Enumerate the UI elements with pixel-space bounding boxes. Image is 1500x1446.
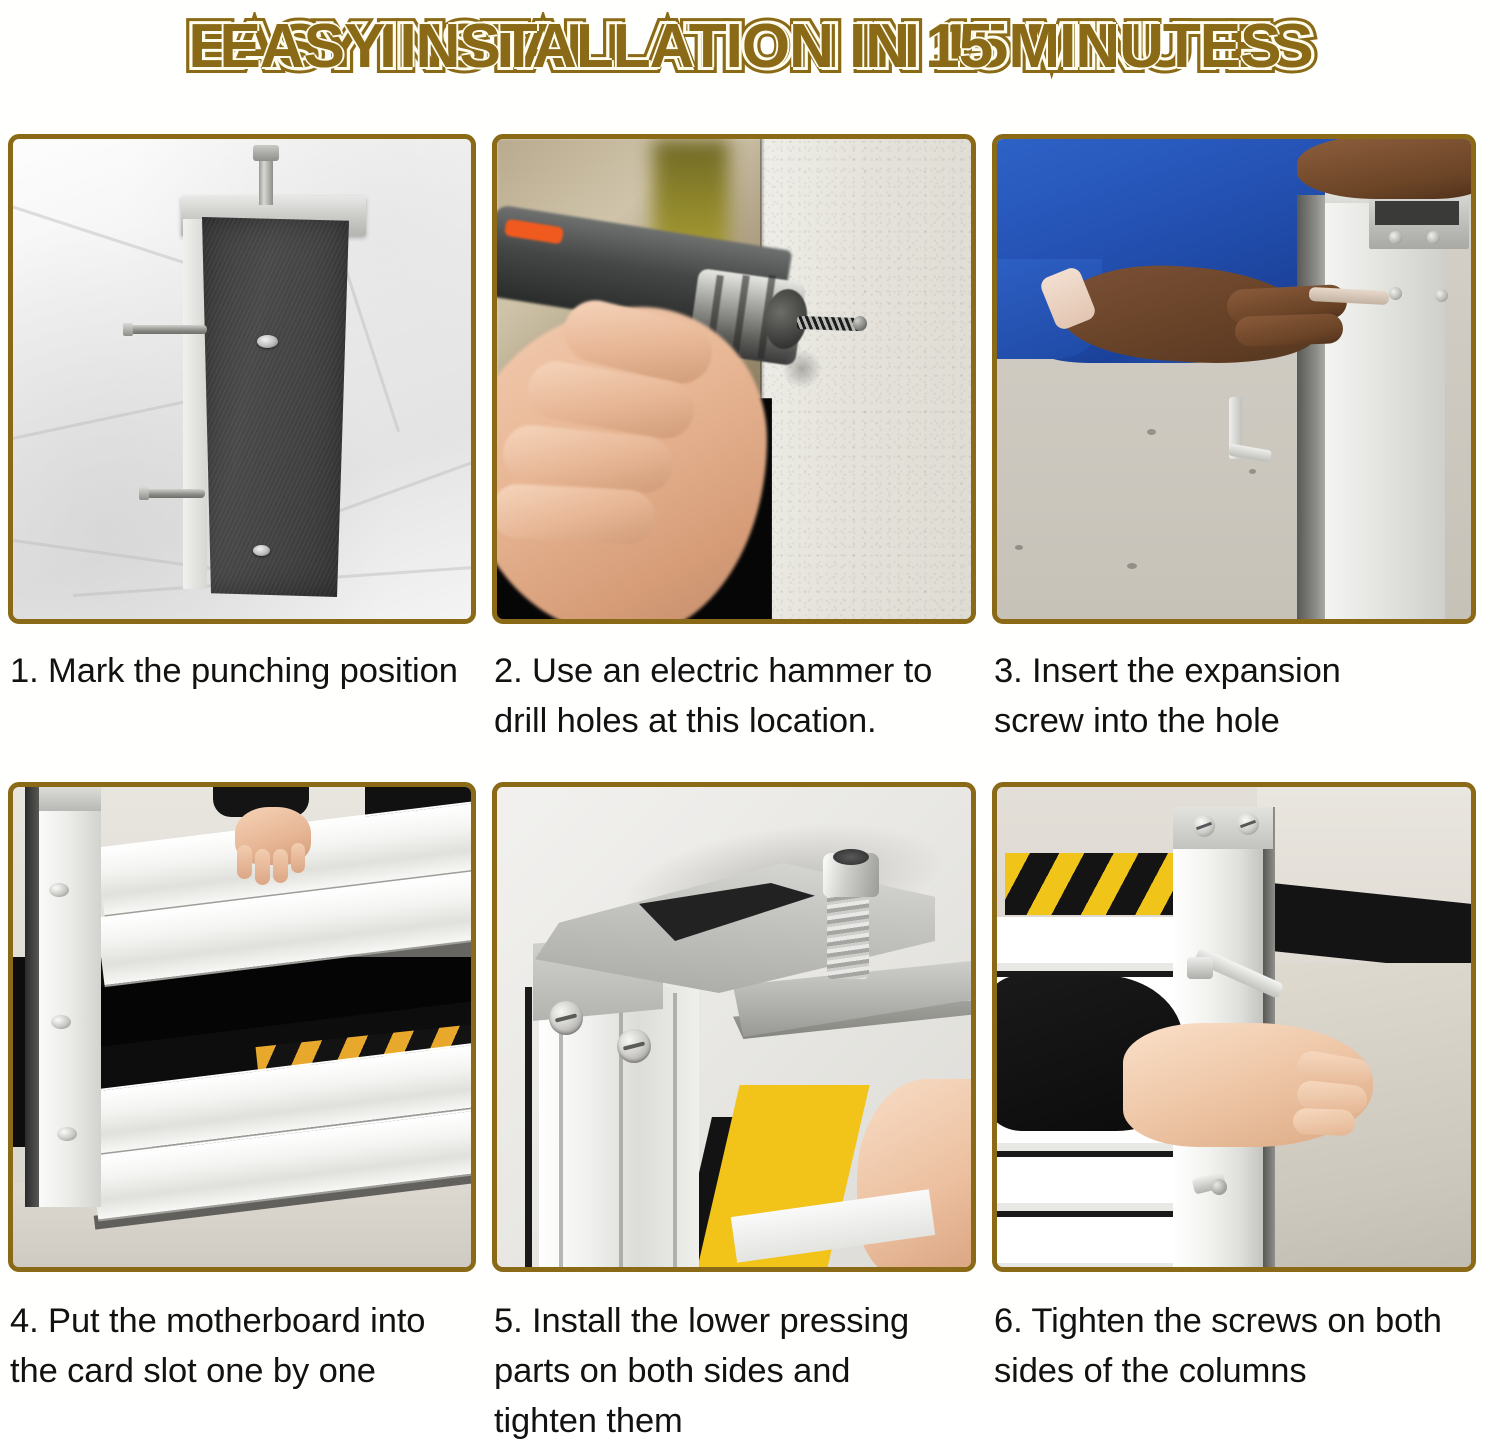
step-3-caption-line-2: screw into the hole (994, 696, 1468, 746)
step-2-caption-line-2: drill holes at this location. (494, 696, 968, 746)
step-3-caption-cell: 3. Insert the expansion screw into the h… (992, 634, 1492, 782)
photo-install-pressing-parts (492, 782, 976, 1272)
step-4-caption-cell: 4. Put the motherboard into the card slo… (8, 1284, 492, 1432)
photo-mark-punching-position (8, 134, 476, 624)
step-1-caption-line-1: 1. Mark the punching position (10, 646, 468, 696)
title-fill: EASY INSTALLATION IN 15 MINUTES (220, 12, 1281, 81)
step-1-photo-cell (8, 134, 492, 634)
photo-drill-holes (492, 134, 976, 624)
step-1-caption: 1. Mark the punching position (10, 634, 468, 696)
step-2-photo-cell (492, 134, 992, 634)
step-6-caption-cell: 6. Tighten the screws on both sides of t… (992, 1284, 1492, 1432)
step-5-caption-line-1: 5. Install the lower pressing (494, 1296, 968, 1346)
step-5-caption: 5. Install the lower pressing parts on b… (494, 1284, 968, 1446)
step-5-photo-cell (492, 782, 992, 1284)
step-5-caption-line-2: parts on both sides and (494, 1346, 968, 1396)
step-2-caption: 2. Use an electric hammer to drill holes… (494, 634, 968, 746)
step-6-caption-line-1: 6. Tighten the screws on both (994, 1296, 1468, 1346)
step-4-photo-cell (8, 782, 492, 1284)
step-3-photo-cell (992, 134, 1492, 634)
step-1-caption-cell: 1. Mark the punching position (8, 634, 492, 782)
step-5-caption-cell: 5. Install the lower pressing parts on b… (492, 1284, 992, 1432)
step-6-photo-cell (992, 782, 1492, 1284)
photo-tighten-screws (992, 782, 1476, 1272)
infographic-sheet: EASY INSTALLATION IN 15 MINUTES EASY INS… (0, 0, 1500, 1403)
title-banner: EASY INSTALLATION IN 15 MINUTES EASY INS… (0, 4, 1500, 90)
step-2-caption-line-1: 2. Use an electric hammer to (494, 646, 968, 696)
step-4-caption-line-2: the card slot one by one (10, 1346, 468, 1396)
step-4-caption: 4. Put the motherboard into the card slo… (10, 1284, 468, 1396)
step-6-caption: 6. Tighten the screws on both sides of t… (994, 1284, 1468, 1396)
step-6-caption-line-2: sides of the columns (994, 1346, 1468, 1396)
step-3-caption: 3. Insert the expansion screw into the h… (994, 634, 1468, 746)
photo-insert-boards (8, 782, 476, 1272)
step-5-caption-line-3: tighten them (494, 1396, 968, 1446)
steps-grid: 1. Mark the punching position 2. Use an … (8, 134, 1492, 1432)
step-4-caption-line-1: 4. Put the motherboard into (10, 1296, 468, 1346)
step-3-caption-line-1: 3. Insert the expansion (994, 646, 1468, 696)
step-2-caption-cell: 2. Use an electric hammer to drill holes… (492, 634, 992, 782)
photo-insert-expansion-screw (992, 134, 1476, 624)
page-title: EASY INSTALLATION IN 15 MINUTES EASY INS… (220, 12, 1281, 82)
